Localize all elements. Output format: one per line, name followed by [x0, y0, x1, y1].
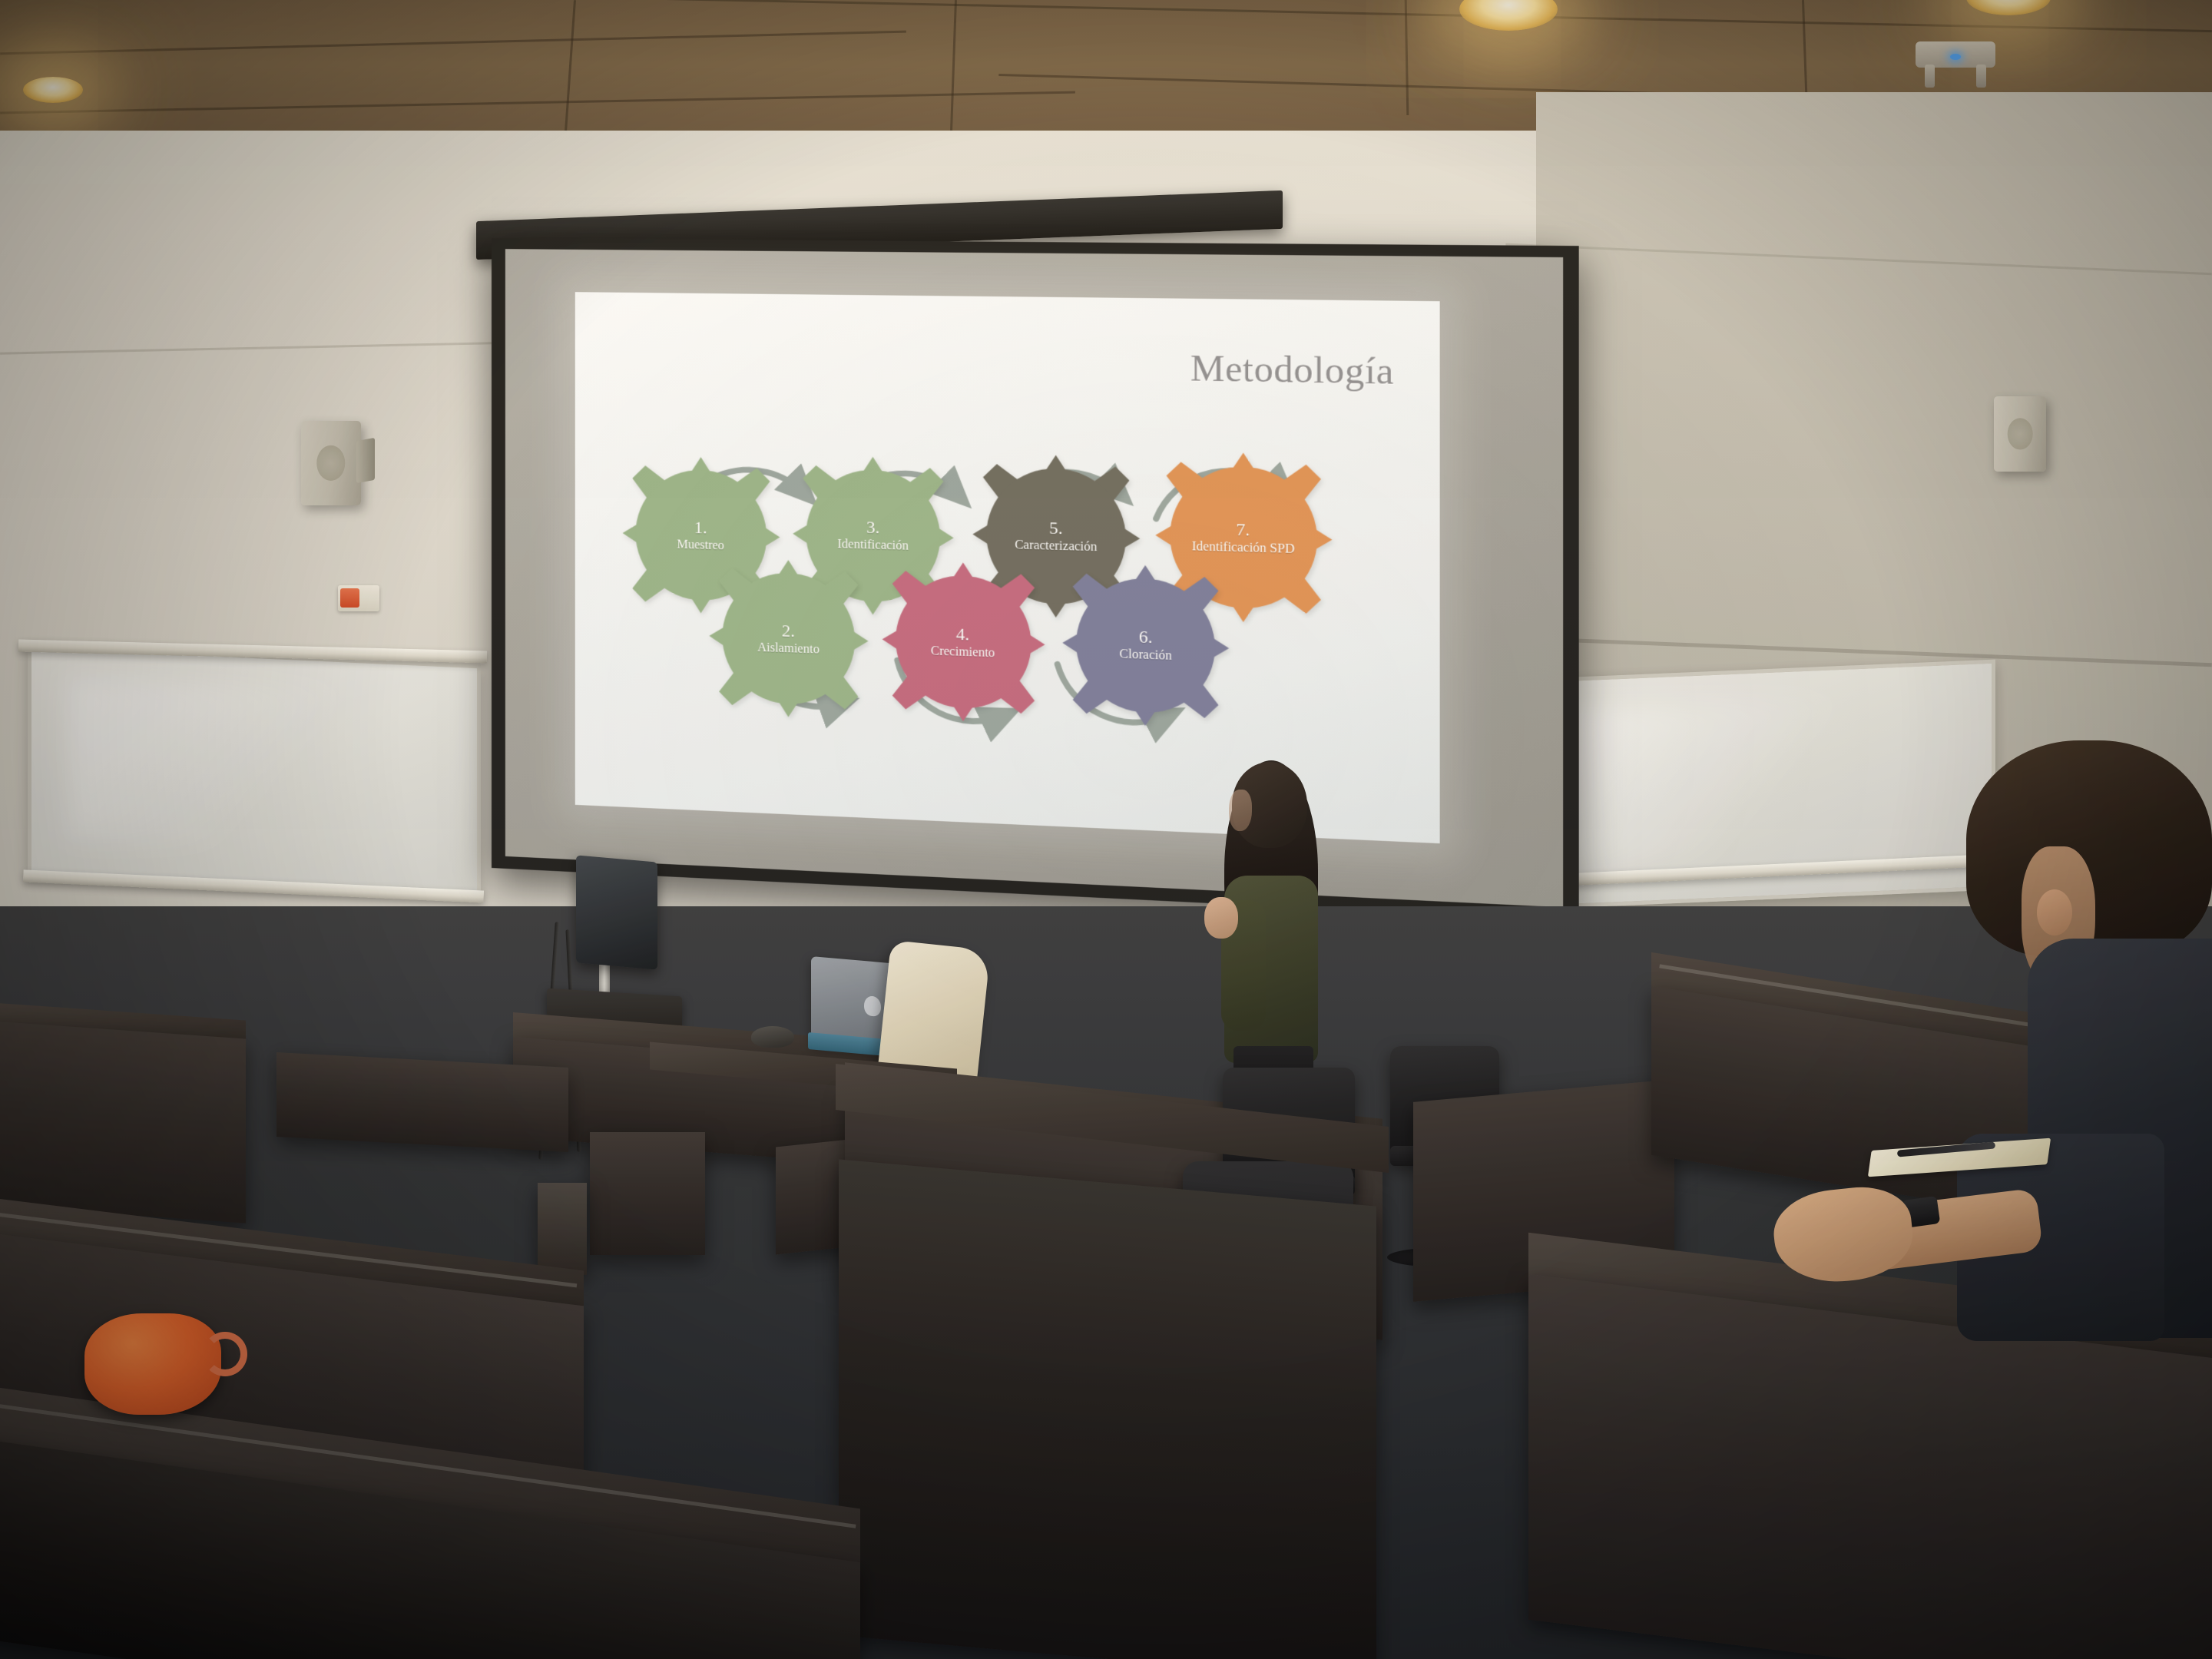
gear-label: Cloración	[1114, 647, 1177, 664]
attendee-ear	[2037, 889, 2072, 935]
computer-mouse[interactable]	[751, 1026, 794, 1048]
wall-speaker-left	[301, 421, 361, 505]
gear-label: Identificación SPD	[1187, 539, 1300, 557]
bag-strap	[203, 1332, 247, 1376]
speaker-bracket	[356, 438, 375, 483]
gear-label: Caracterización	[1010, 538, 1102, 555]
gear-4-crecimiento: 4. Crecimiento	[875, 557, 1051, 728]
gear-label: Crecimiento	[926, 644, 1000, 661]
gear-number: 2.	[782, 621, 795, 640]
projection-screen: Metodología	[492, 238, 1579, 922]
sensor-leg	[1925, 65, 1935, 88]
downlight-2	[23, 77, 83, 103]
desktop-monitor	[576, 855, 657, 969]
gear-number: 4.	[956, 624, 969, 643]
desk-leg	[538, 1183, 587, 1275]
speaker-cone-icon	[2008, 418, 2033, 449]
wall-speaker-right	[1994, 396, 2046, 472]
wall-cabinet	[276, 1052, 568, 1152]
orange-knit-bag[interactable]	[84, 1313, 221, 1415]
desk-pedestal	[590, 1132, 705, 1255]
speaker-cone-icon	[316, 445, 345, 481]
presenter	[1189, 760, 1373, 1106]
status-led-icon	[1950, 54, 1961, 60]
gear-label: Identificación	[833, 538, 913, 554]
gear-number: 7.	[1236, 520, 1250, 539]
attendee-clasped-hands	[1770, 1182, 1917, 1288]
gear-6-cloracion: 6. Cloración	[1056, 559, 1237, 733]
whiteboard-glare	[67, 677, 343, 849]
switch-indicator-icon	[340, 588, 359, 608]
lecture-hall-photo: Metodología	[0, 0, 2212, 1659]
gear-label: Aislamiento	[753, 641, 824, 657]
gear-number: 1.	[694, 518, 707, 536]
gear-2-aislamiento: 2. Aislamiento	[703, 555, 876, 724]
presenter-hand	[1204, 897, 1238, 939]
gear-number: 6.	[1139, 628, 1153, 647]
left-desk	[0, 1019, 246, 1223]
gear-label: Muestreo	[672, 538, 729, 553]
ceiling-sensor	[1916, 41, 1995, 68]
gear-number: 5.	[1049, 518, 1063, 537]
screen-surface: Metodología	[505, 249, 1563, 907]
light-switch-plate[interactable]	[338, 585, 379, 611]
apple-logo-icon	[864, 995, 881, 1017]
gear-number: 3.	[866, 518, 879, 536]
sensor-leg	[1976, 65, 1986, 88]
whiteboard-left	[28, 644, 481, 896]
foreground-desk	[839, 1159, 1376, 1659]
presenter-face	[1229, 790, 1252, 831]
seated-attendee	[1751, 768, 2212, 1336]
